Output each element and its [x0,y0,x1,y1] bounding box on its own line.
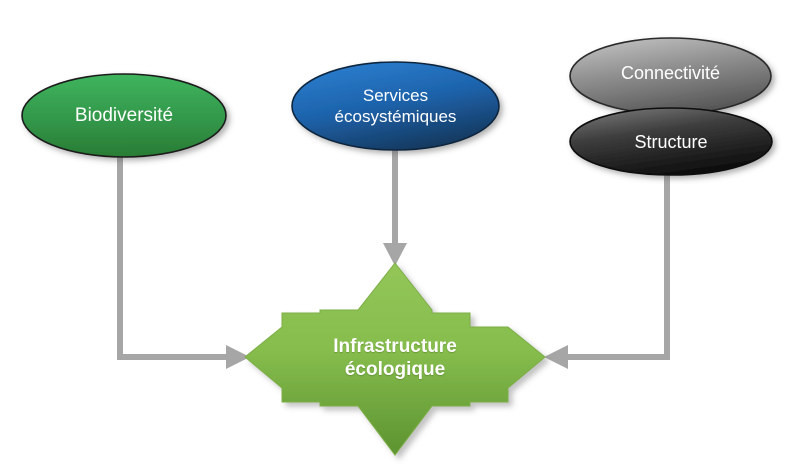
node-services-shape[interactable] [292,62,499,150]
connector-structure-to-infrastructure [544,170,667,369]
node-connectivite-shape[interactable] [570,38,771,114]
connector-biodiversite-to-infrastructure [120,150,250,369]
node-biodiversite-shape[interactable] [22,74,226,157]
node-structure-shape[interactable] [570,108,772,175]
node-infrastructure-shape[interactable] [245,263,545,455]
connector-services-to-infrastructure [383,146,407,266]
diagram-graphics [0,0,805,476]
diagram-canvas: Biodiversité Services écosystémiques Con… [0,0,805,476]
